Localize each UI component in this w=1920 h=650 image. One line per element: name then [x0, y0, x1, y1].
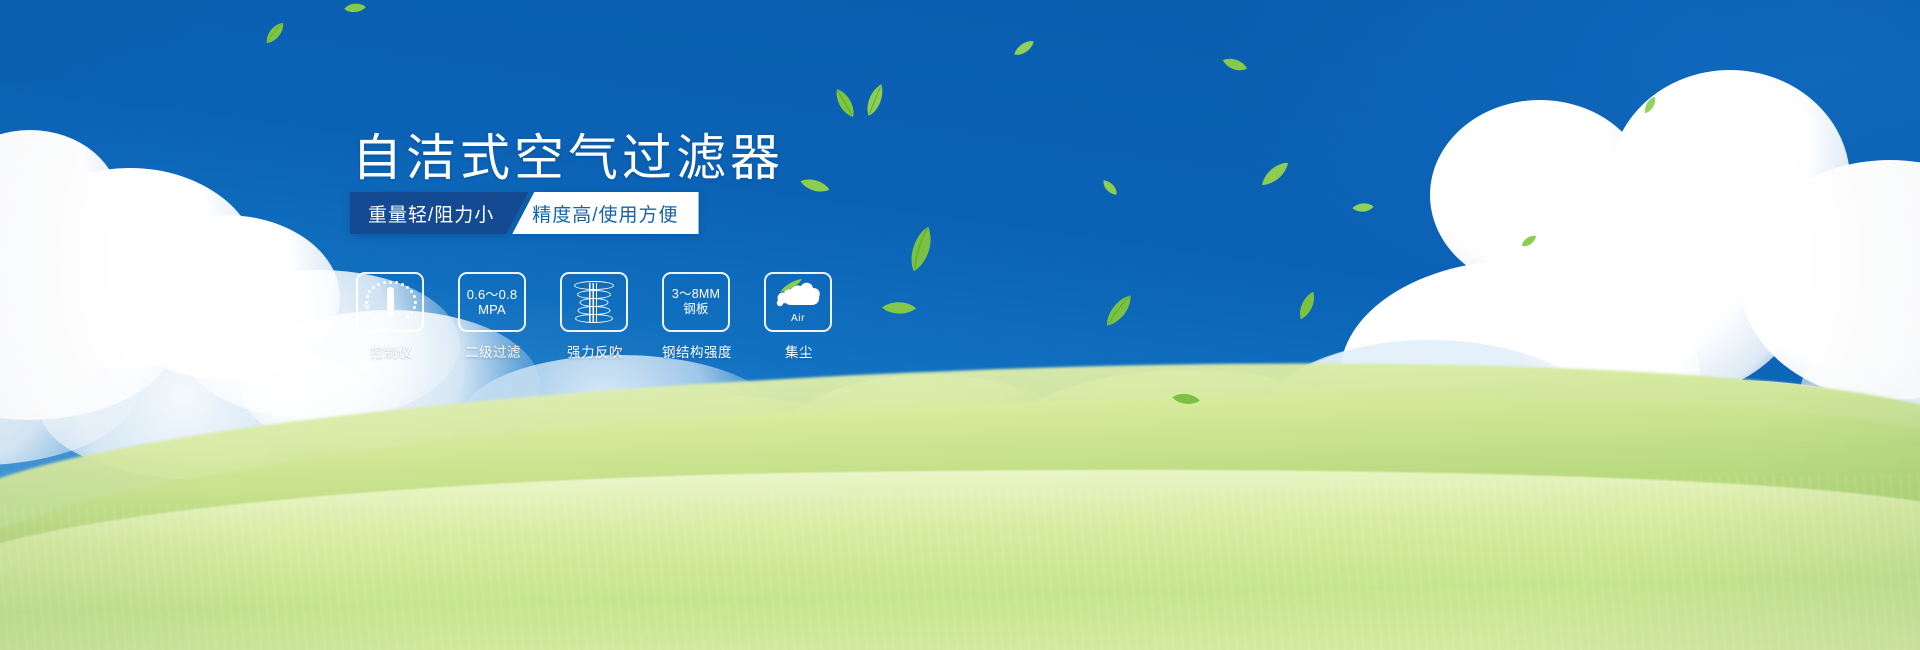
steel-plate-unit-text: 钢板: [683, 302, 708, 317]
feature-list: NO OFF 控制仪 0.6～0.8 MPA 二级过滤: [356, 272, 834, 361]
leaf-icon: [1011, 39, 1037, 56]
leaf-icon: [1101, 176, 1118, 199]
reverse-blow-icon: [573, 279, 615, 325]
leaf-icon: [1291, 290, 1323, 322]
leaf-icon: [799, 170, 832, 200]
leaf-icon: [1351, 199, 1375, 215]
pressure-text-icon: 0.6～0.8: [467, 287, 518, 302]
leaf-icon: [860, 80, 890, 120]
leaf-icon: [260, 21, 290, 46]
control-dial-icon: NO OFF: [364, 279, 416, 325]
dial-label-no: NO: [363, 303, 370, 308]
leaf-icon: [898, 224, 944, 274]
page-title: 自洁式空气过滤器: [352, 118, 784, 190]
feature-label: 控制仪: [356, 341, 426, 361]
leaf-icon: [343, 0, 368, 17]
leaf-icon: [829, 84, 862, 122]
feature-box: Air: [764, 272, 832, 332]
air-cloud-icon: Air: [774, 281, 822, 323]
leaf-icon: [1098, 293, 1140, 328]
feature-item-steel-plate: 3～8MM 钢板 钢结构强度: [662, 272, 732, 361]
feature-item-reverse-blow: 强力反吹: [560, 272, 630, 361]
feature-label: 二级过滤: [458, 341, 528, 361]
steel-plate-text-icon: 3～8MM: [672, 287, 720, 302]
dial-label-off: OFF: [407, 315, 417, 320]
feature-label: 强力反吹: [560, 341, 630, 361]
feature-box: [560, 272, 628, 332]
feature-label: 集尘: [764, 341, 834, 361]
leaf-icon: [880, 294, 918, 322]
feature-item-dust-collection: Air 集尘: [764, 272, 834, 361]
air-label: Air: [774, 313, 822, 324]
feature-tag-bar: 重量轻/阻力小 精度高/使用方便: [350, 192, 699, 234]
feature-box: NO OFF: [356, 272, 424, 332]
tag-secondary: 精度高/使用方便: [512, 192, 698, 234]
feature-box: 0.6～0.8 MPA: [458, 272, 526, 332]
feature-item-pressure: 0.6～0.8 MPA 二级过滤: [458, 272, 528, 361]
hero-banner: 自洁式空气过滤器 重量轻/阻力小 精度高/使用方便: [0, 0, 1920, 650]
feature-item-control-dial: NO OFF 控制仪: [356, 272, 426, 361]
feature-box: 3～8MM 钢板: [662, 272, 730, 332]
leaf-icon: [1256, 161, 1293, 188]
leaf-icon: [1221, 51, 1249, 78]
pressure-unit-text: MPA: [478, 302, 506, 317]
tag-primary: 重量轻/阻力小: [350, 192, 528, 234]
feature-label: 钢结构强度: [662, 341, 732, 361]
